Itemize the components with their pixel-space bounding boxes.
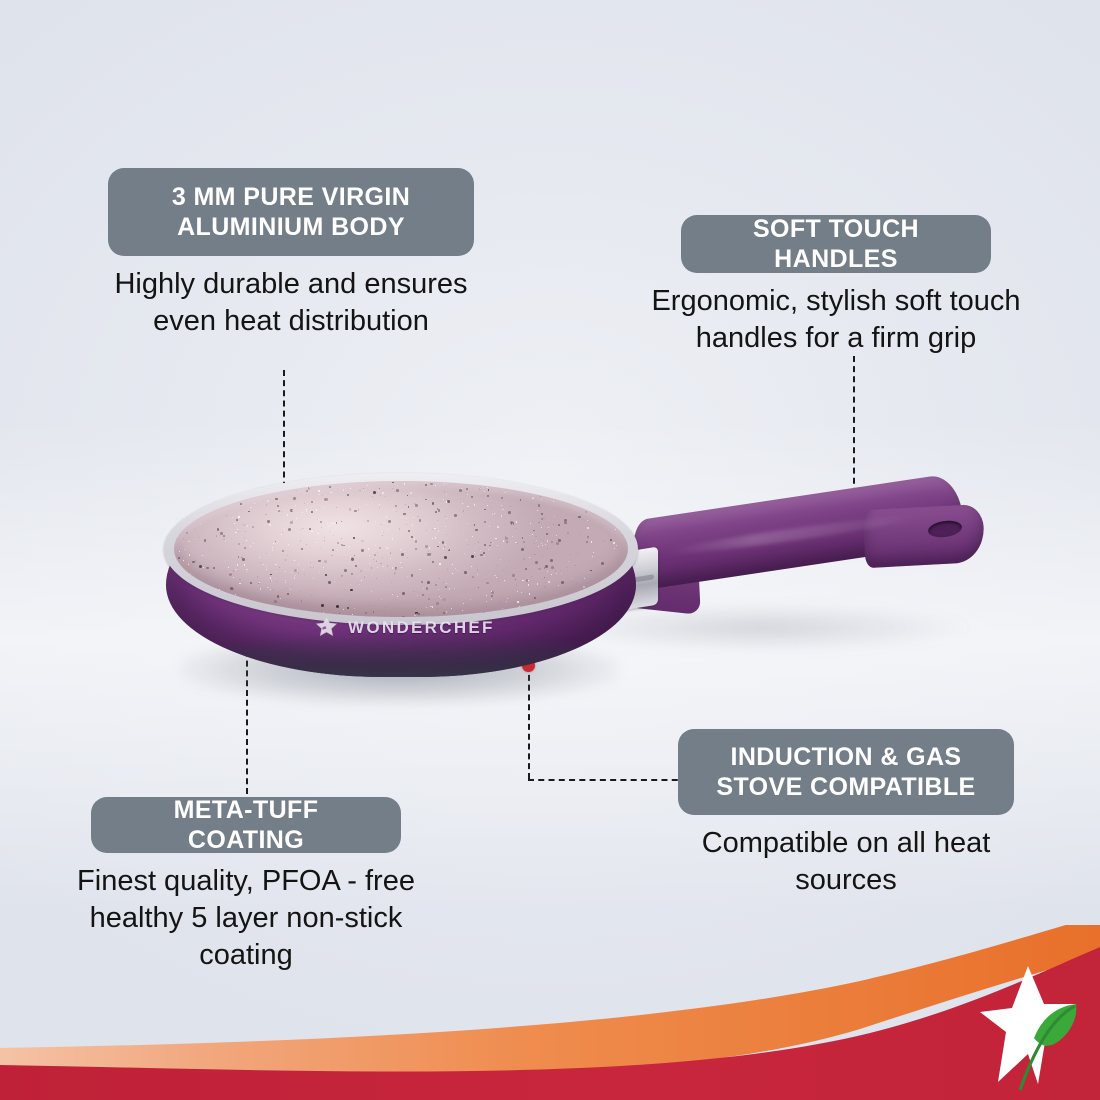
feature-description-aluminium-body: Highly durable and ensures even heat dis… [108, 266, 474, 340]
feature-aluminium-body: 3 MM PURE VIRGIN ALUMINIUM BODY Highly d… [108, 168, 474, 340]
feature-description-soft-touch-handles: Ergonomic, stylish soft touch handles fo… [636, 283, 1036, 357]
granite-speckle-texture [174, 481, 628, 617]
wonderchef-logo [976, 960, 1080, 1094]
infographic-canvas: WONDERCHEF 3 MM PURE VIRGIN ALUMINIUM BO… [0, 0, 1100, 1100]
feature-description-induction-compatible: Compatible on all heat sources [678, 825, 1014, 899]
feature-soft-touch-handles: SOFT TOUCH HANDLES Ergonomic, stylish so… [636, 215, 1036, 357]
bottom-banner [0, 925, 1100, 1100]
pan-brand-name: WONDERCHEF [348, 618, 495, 638]
pan-brand-mark: WONDERCHEF [314, 615, 495, 640]
feature-badge-meta-tuff-coating[interactable]: META-TUFF COATING [91, 797, 401, 853]
star-icon [314, 615, 339, 640]
pan-nonstick-interior [174, 481, 628, 617]
feature-badge-aluminium-body[interactable]: 3 MM PURE VIRGIN ALUMINIUM BODY [108, 168, 474, 256]
feature-badge-soft-touch-handles[interactable]: SOFT TOUCH HANDLES [681, 215, 991, 273]
feature-badge-induction-compatible[interactable]: INDUCTION & GAS STOVE COMPATIBLE [678, 729, 1014, 815]
feature-induction-compatible: INDUCTION & GAS STOVE COMPATIBLE Compati… [678, 729, 1014, 899]
banner-shape [0, 925, 1100, 1100]
handle-tip [863, 504, 986, 568]
frying-pan-image: WONDERCHEF [150, 455, 1010, 755]
pan-handle [635, 481, 980, 616]
